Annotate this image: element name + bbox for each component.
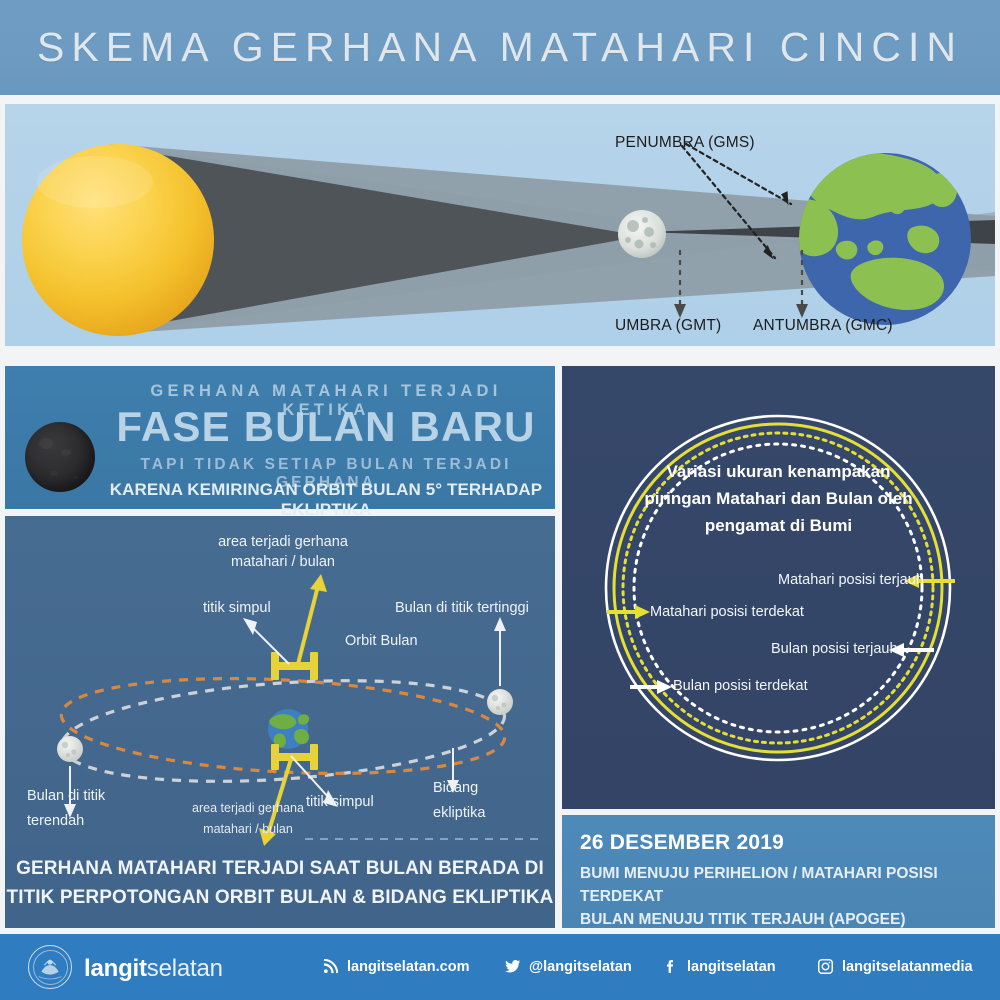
earth-icon-small bbox=[268, 709, 309, 749]
seal-emblem bbox=[29, 946, 71, 988]
moon-marker-highest bbox=[487, 689, 513, 715]
eclipse-geometry-panel: PENUMBRA (GMS) UMBRA (GMT) ANTUMBRA (GMC… bbox=[5, 104, 995, 346]
footer-facebook-label: langitselatan bbox=[687, 959, 776, 975]
arrow-sun-near bbox=[607, 605, 650, 619]
moon-sphere bbox=[618, 210, 666, 258]
title-line-2: piringan Matahari dan Bulan oleh bbox=[606, 485, 951, 512]
label-eclipse-area-bottom-line2: matahari / bulan bbox=[183, 822, 313, 836]
label-penumbra: PENUMBRA (GMS) bbox=[615, 134, 755, 152]
label-moon-near: Bulan posisi terdekat bbox=[673, 678, 808, 694]
footer-twitter-label: @langitselatan bbox=[529, 959, 632, 975]
label-moon-highest: Bulan di titik tertinggi bbox=[395, 600, 529, 616]
footer-link-facebook[interactable]: langitselatan bbox=[662, 958, 776, 975]
arrowhead bbox=[796, 304, 808, 318]
arrowhead bbox=[494, 617, 506, 631]
label-ecliptic-line1: Bidang bbox=[433, 780, 478, 796]
footer-link-website[interactable]: langitselatan.com bbox=[322, 958, 469, 975]
moon-marker-lowest bbox=[57, 736, 83, 762]
footer-instagram-label: langitselatanmedia bbox=[842, 959, 973, 975]
arrowhead bbox=[674, 304, 686, 318]
label-moon-lowest-line2: terendah bbox=[27, 813, 84, 829]
footer-website-label: langitselatan.com bbox=[347, 959, 469, 975]
label-sun-far: Matahari posisi terjauh bbox=[778, 572, 924, 588]
label-eclipse-area-bottom-line1: area terjadi gerhana bbox=[183, 801, 313, 815]
footer-bar: langitselatan langitselatan.com @langits… bbox=[0, 934, 1000, 1000]
label-moon-far: Bulan posisi terjauh bbox=[771, 641, 898, 657]
arrowhead bbox=[310, 574, 327, 592]
footer-link-instagram[interactable]: langitselatanmedia bbox=[817, 958, 973, 975]
label-umbra: UMBRA (GMT) bbox=[615, 317, 721, 335]
brand-light: selatan bbox=[147, 955, 223, 982]
label-eclipse-area-top-line1: area terjadi gerhana bbox=[183, 534, 383, 550]
orbit-panel-footer: GERHANA MATAHARI TERJADI SAAT BULAN BERA… bbox=[5, 854, 555, 912]
label-node-bottom: titik simpul bbox=[306, 794, 374, 810]
fase-line-4: KARENA KEMIRINGAN ORBIT BULAN 5° TERHADA… bbox=[105, 480, 547, 520]
title-line-3: pengamat di Bumi bbox=[606, 512, 951, 539]
langitselatan-seal-logo bbox=[28, 945, 72, 989]
event-date-panel: 26 DESEMBER 2019 BUMI MENUJU PERIHELION … bbox=[562, 815, 995, 928]
node-marker-top bbox=[271, 652, 318, 680]
label-orbit-bulan: Orbit Bulan bbox=[345, 633, 418, 649]
moon-orbit-panel: area terjadi gerhana matahari / bulan ti… bbox=[5, 516, 555, 928]
label-sun-near: Matahari posisi terdekat bbox=[650, 604, 804, 620]
brand-bold: langit bbox=[84, 955, 147, 982]
orbit-footer-line-1: GERHANA MATAHARI TERJADI SAAT BULAN BERA… bbox=[5, 854, 555, 883]
label-node-top: titik simpul bbox=[203, 600, 271, 616]
arrowhead bbox=[243, 618, 257, 635]
event-note-line-2: BULAN MENUJU TITIK TERJAUH (APOGEE) bbox=[580, 908, 977, 931]
fase-headline: FASE BULAN BARU bbox=[105, 402, 547, 452]
new-moon-icon bbox=[25, 422, 95, 492]
instagram-icon bbox=[817, 958, 834, 975]
twitter-icon bbox=[504, 958, 521, 975]
facebook-icon bbox=[662, 958, 679, 975]
event-date: 26 DESEMBER 2019 bbox=[580, 831, 977, 855]
label-antumbra: ANTUMBRA (GMC) bbox=[753, 317, 893, 335]
header-bar: SKEMA GERHANA MATAHARI CINCIN bbox=[0, 0, 1000, 95]
apparent-size-panel: Variasi ukuran kenampakan piringan Matah… bbox=[562, 366, 995, 809]
new-moon-phase-panel: GERHANA MATAHARI TERJADI KETIKA FASE BUL… bbox=[5, 366, 555, 509]
label-eclipse-area-top-line2: matahari / bulan bbox=[183, 554, 383, 570]
footer-link-twitter[interactable]: @langitselatan bbox=[504, 958, 632, 975]
event-note-line-1: BUMI MENUJU PERIHELION / MATAHARI POSISI… bbox=[580, 862, 977, 908]
apparent-size-title: Variasi ukuran kenampakan piringan Matah… bbox=[606, 458, 951, 539]
rss-icon bbox=[322, 958, 339, 975]
title-line-1: Variasi ukuran kenampakan bbox=[606, 458, 951, 485]
orbit-footer-line-2: TITIK PERPOTONGAN ORBIT BULAN & BIDANG E… bbox=[5, 883, 555, 912]
label-moon-lowest-line1: Bulan di titik bbox=[27, 788, 105, 804]
infographic-page: SKEMA GERHANA MATAHARI CINCIN bbox=[0, 0, 1000, 1000]
brand-wordmark: langitselatan bbox=[84, 955, 223, 983]
label-ecliptic-line2: ekliptika bbox=[433, 805, 485, 821]
node-leader-top bbox=[251, 626, 289, 664]
page-title: SKEMA GERHANA MATAHARI CINCIN bbox=[0, 0, 1000, 95]
eclipse-geometry-diagram bbox=[5, 104, 995, 346]
earth-globe bbox=[791, 152, 971, 325]
